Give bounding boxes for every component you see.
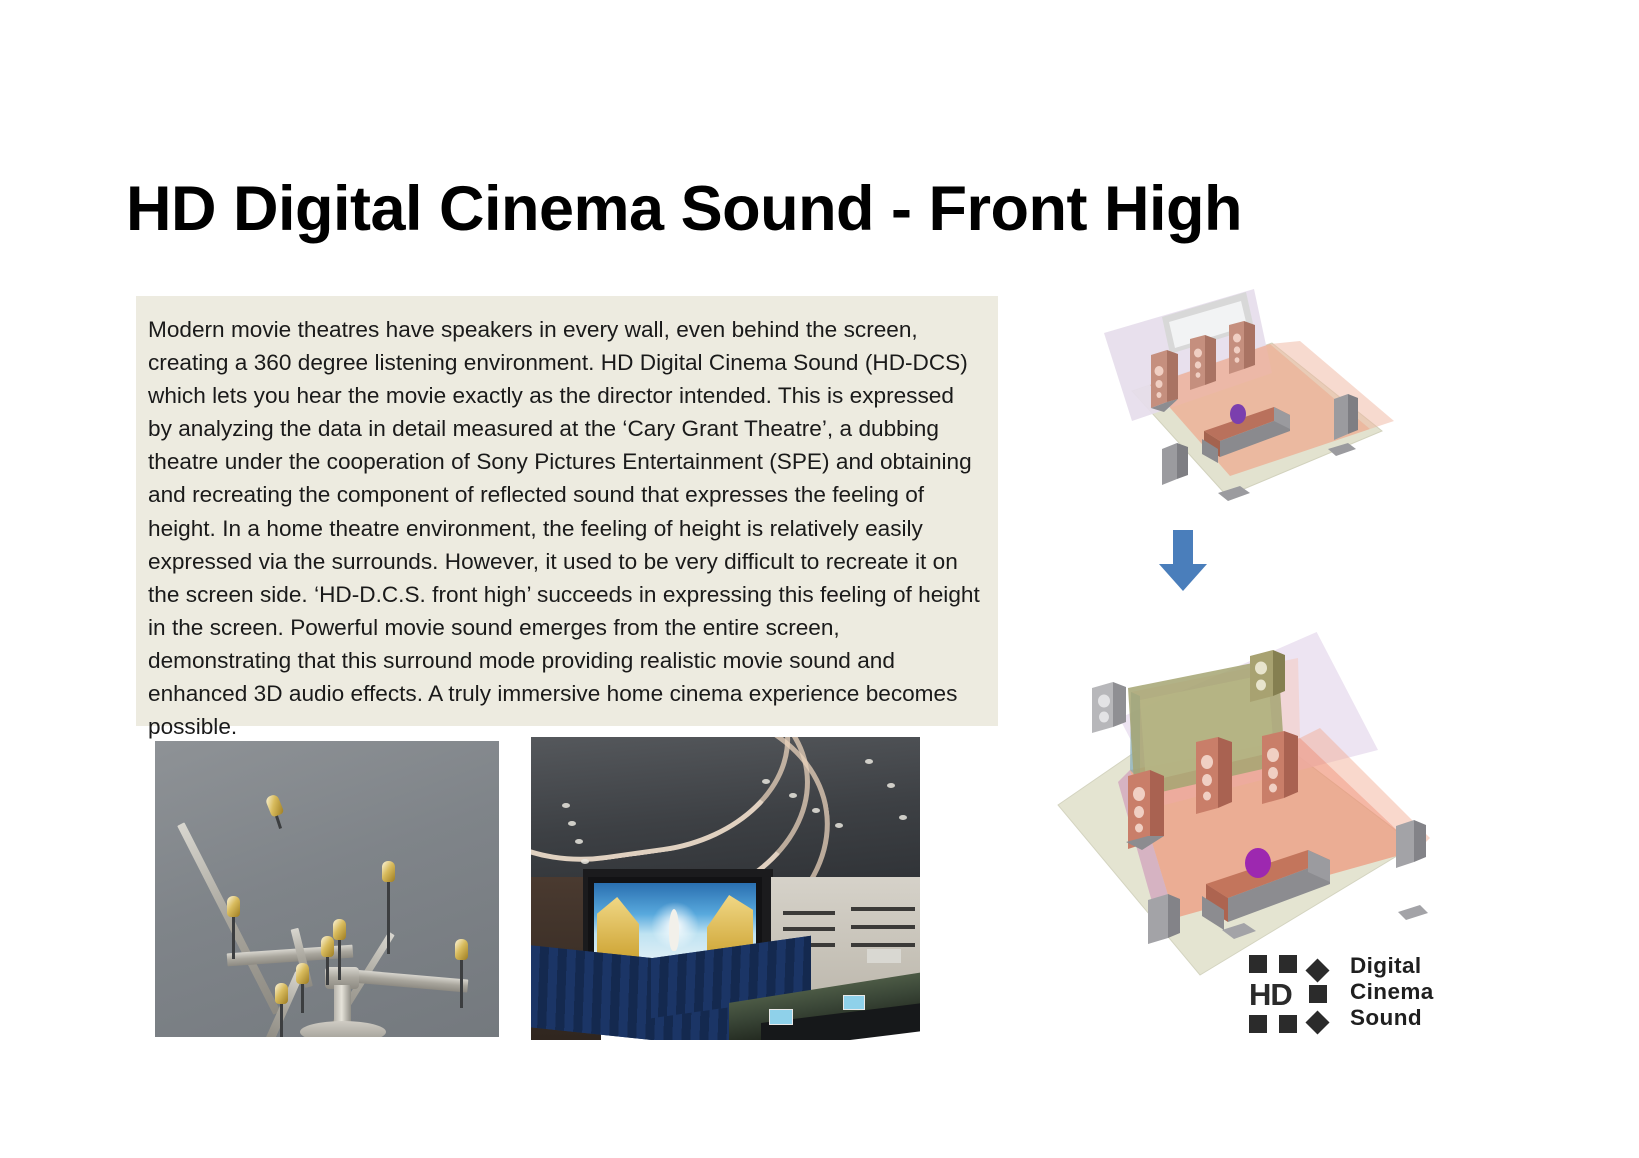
ceiling-downlight bbox=[835, 823, 843, 828]
ceiling-downlight bbox=[812, 808, 820, 813]
wall-acoustic-rib bbox=[851, 925, 915, 929]
photo-background bbox=[155, 741, 499, 1037]
ceiling-downlight bbox=[789, 793, 797, 798]
room-diagram-svg bbox=[1022, 281, 1402, 521]
mic-stem-8 bbox=[460, 956, 463, 1008]
ceiling-downlight bbox=[575, 839, 583, 844]
body-text-panel: Modern movie theatres have speakers in e… bbox=[136, 296, 998, 726]
logo-wordmark: Digital Cinema Sound bbox=[1350, 953, 1434, 1031]
body-paragraph: Modern movie theatres have speakers in e… bbox=[148, 313, 982, 743]
ceiling-downlight bbox=[762, 779, 770, 784]
ceiling-downlight bbox=[899, 815, 907, 820]
microphone-array-photo bbox=[155, 741, 499, 1037]
ceiling-downlight bbox=[562, 803, 570, 808]
projection-booth-window bbox=[867, 949, 901, 963]
logo-square-icon bbox=[1279, 1015, 1297, 1033]
front-right-speaker bbox=[1229, 321, 1255, 374]
ceiling-downlight bbox=[887, 783, 895, 788]
surround-right-speaker bbox=[1396, 820, 1426, 868]
dubbing-theatre-photo bbox=[531, 737, 920, 1040]
logo-line-cinema: Cinema bbox=[1350, 979, 1434, 1005]
ceiling-downlight bbox=[865, 759, 873, 764]
logo-hd-text: HD bbox=[1249, 979, 1292, 1010]
ceiling-downlight bbox=[581, 859, 589, 864]
ceiling-downlight bbox=[568, 821, 576, 826]
front-left-speaker bbox=[1126, 770, 1164, 850]
logo-line-sound: Sound bbox=[1350, 1005, 1434, 1031]
wall-acoustic-rib bbox=[783, 911, 835, 915]
wall-acoustic-rib bbox=[851, 907, 915, 911]
logo-square-icon bbox=[1309, 985, 1327, 1003]
surround-left-speaker bbox=[1162, 443, 1188, 485]
wall-acoustic-rib bbox=[783, 927, 835, 931]
mic-stem-4 bbox=[338, 936, 341, 980]
mic-stem-6 bbox=[301, 979, 304, 1013]
page-title: HD Digital Cinema Sound - Front High bbox=[126, 176, 1466, 242]
listener-head bbox=[1245, 848, 1271, 878]
logo-square-icon bbox=[1279, 955, 1297, 973]
logo-mark: HD bbox=[1249, 955, 1345, 1033]
mic-capsule-5 bbox=[321, 936, 334, 957]
front-right-speaker bbox=[1262, 731, 1298, 804]
screen-image-figure bbox=[669, 909, 679, 951]
mic-capsule-4 bbox=[333, 919, 346, 940]
console-monitor bbox=[769, 1009, 793, 1025]
digital-cinema-sound-logo: HD Digital Cinema Sound bbox=[1249, 955, 1439, 1033]
down-arrow bbox=[1157, 530, 1209, 592]
mic-base bbox=[300, 1021, 386, 1037]
logo-diamond-icon bbox=[1305, 958, 1329, 982]
room-diagram-standard-surround bbox=[1022, 281, 1402, 521]
mic-capsule-3 bbox=[227, 896, 240, 917]
mic-capsule-2 bbox=[382, 861, 395, 882]
logo-diamond-icon bbox=[1305, 1010, 1329, 1034]
slide-canvas: HD Digital Cinema Sound - Front High Mod… bbox=[0, 0, 1639, 1158]
listener-head bbox=[1230, 404, 1246, 424]
mic-stem-3 bbox=[232, 913, 235, 959]
mic-stem-7 bbox=[280, 999, 283, 1037]
mic-capsule-8 bbox=[455, 939, 468, 960]
mic-capsule-7 bbox=[275, 983, 288, 1004]
console-monitor bbox=[843, 995, 865, 1010]
center-speaker bbox=[1196, 737, 1232, 814]
logo-line-digital: Digital bbox=[1350, 953, 1434, 979]
logo-square-icon bbox=[1249, 955, 1267, 973]
logo-square-icon bbox=[1249, 1015, 1267, 1033]
rear-speaker-right bbox=[1398, 905, 1428, 920]
wall-acoustic-rib bbox=[851, 943, 915, 947]
center-speaker bbox=[1190, 335, 1216, 390]
front-left-speaker bbox=[1151, 350, 1178, 412]
mic-capsule-6 bbox=[296, 963, 309, 984]
mic-stem-2 bbox=[387, 876, 390, 954]
